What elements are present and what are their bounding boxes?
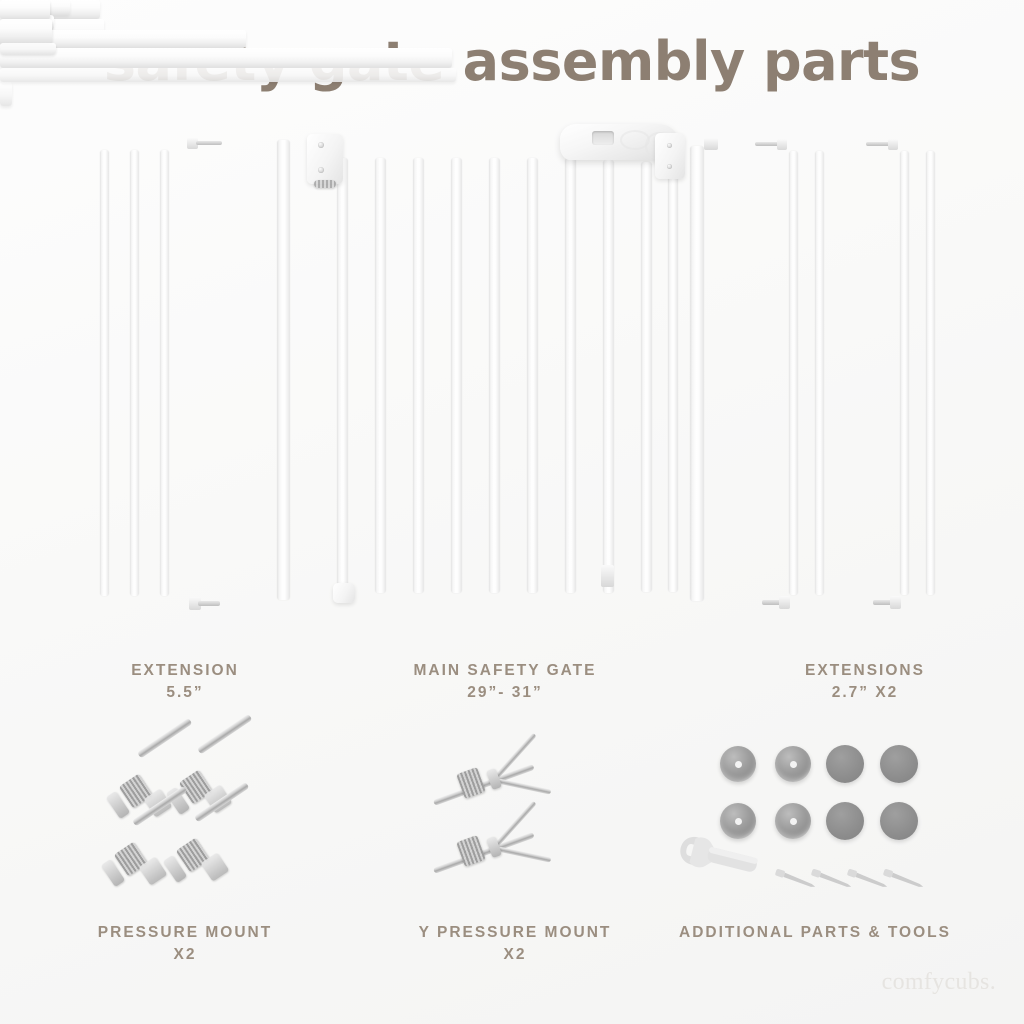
caption-line-1: PRESSURE MOUNT [35,922,335,944]
pad-disc [826,745,864,783]
gate-door-bar [413,158,424,593]
gate-left-foot-tab [0,82,12,106]
caption-line-1: ADDITIONAL PARTS & TOOLS [665,922,965,944]
caption-line-2: 5.5” [35,682,335,704]
brand-mark: . [990,969,996,995]
gate-lower-hinge-bracket [333,583,355,603]
extension-left-bar [130,150,139,596]
gate-right-top-endcap [704,138,718,150]
extension-right-2-bar [926,151,935,595]
gate-latch-slider [592,131,614,145]
gate-hinge-screw [318,142,324,148]
screw-icon [880,866,928,896]
part-extension-right-2 [0,0,56,54]
extension-left-bottom-rod [198,601,220,606]
wrench-icon [672,832,772,896]
gate-latch-catch [601,565,614,587]
gate-door-bar [603,160,614,593]
wall-cup [720,746,756,782]
extension-right-2-top-rail [0,0,50,19]
extension-right-1-bar [815,151,824,595]
extension-right-1-bar [789,151,798,595]
extension-right-1-bottom-connector [779,596,790,609]
caption-extension-left: EXTENSION 5.5” [35,660,335,704]
extension-right-2-bottom-rail [0,19,52,43]
gate-door-bar [337,158,348,593]
wall-cup [775,803,811,839]
brand-logo: comfycubs. [882,969,996,996]
caption-line-2: 2.7” X2 [715,682,1015,704]
gate-door-bar [668,162,678,592]
gate-door-bar [565,158,576,593]
gate-hinge-screw [318,167,324,173]
gate-upper-hinge-bracket [307,134,343,184]
brand-name: comfycubs [882,969,990,995]
caption-line-1: EXTENSION [35,660,335,682]
caption-line-1: MAIN SAFETY GATE [355,660,655,682]
gate-bottom-rail [0,48,452,68]
gate-door-bar [375,158,386,593]
caption-line-2: 29”- 31” [355,682,655,704]
gate-left-post [277,140,290,600]
pad-disc [880,745,918,783]
gate-door-bar [641,162,652,592]
extension-left-bar [100,150,109,596]
pad-disc [880,802,918,840]
gate-bottom-foot [0,68,456,82]
gate-latch-post-bracket [655,133,685,179]
extension-right-1-top-connector [777,139,787,150]
extension-left-top-rod [196,141,222,145]
caption-additional-parts: ADDITIONAL PARTS & TOOLS [665,922,965,944]
extension-left-bar [160,150,169,596]
extension-right-2-bar [900,151,909,595]
caption-line-2: X2 [35,944,335,966]
gate-door-bar [489,158,500,593]
pad-disc [826,802,864,840]
gate-door-bar [451,158,462,593]
gate-door-bar [527,158,538,593]
gate-hinge-pin [314,180,336,188]
part-main-safety-gate [0,0,456,106]
gate-latch-bracket-screw [667,143,672,148]
extension-right-2-bottom-connector [890,596,901,609]
caption-pressure-mount: PRESSURE MOUNT X2 [35,922,335,966]
caption-line-1: EXTENSIONS [715,660,1015,682]
gate-latch-bracket-screw [667,164,672,169]
extension-right-2-foot [0,43,56,54]
caption-line-2: X2 [365,944,665,966]
infographic-canvas: safety gate assembly parts EXTENSION 5.5… [0,0,1024,1024]
caption-extensions-right: EXTENSIONS 2.7” X2 [715,660,1015,704]
caption-main-gate: MAIN SAFETY GATE 29”- 31” [355,660,655,704]
gate-right-post [690,146,704,601]
wall-cup [775,746,811,782]
caption-line-1: Y PRESSURE MOUNT [365,922,665,944]
caption-y-pressure-mount: Y PRESSURE MOUNT X2 [365,922,665,966]
extension-right-2-top-connector [888,139,898,150]
